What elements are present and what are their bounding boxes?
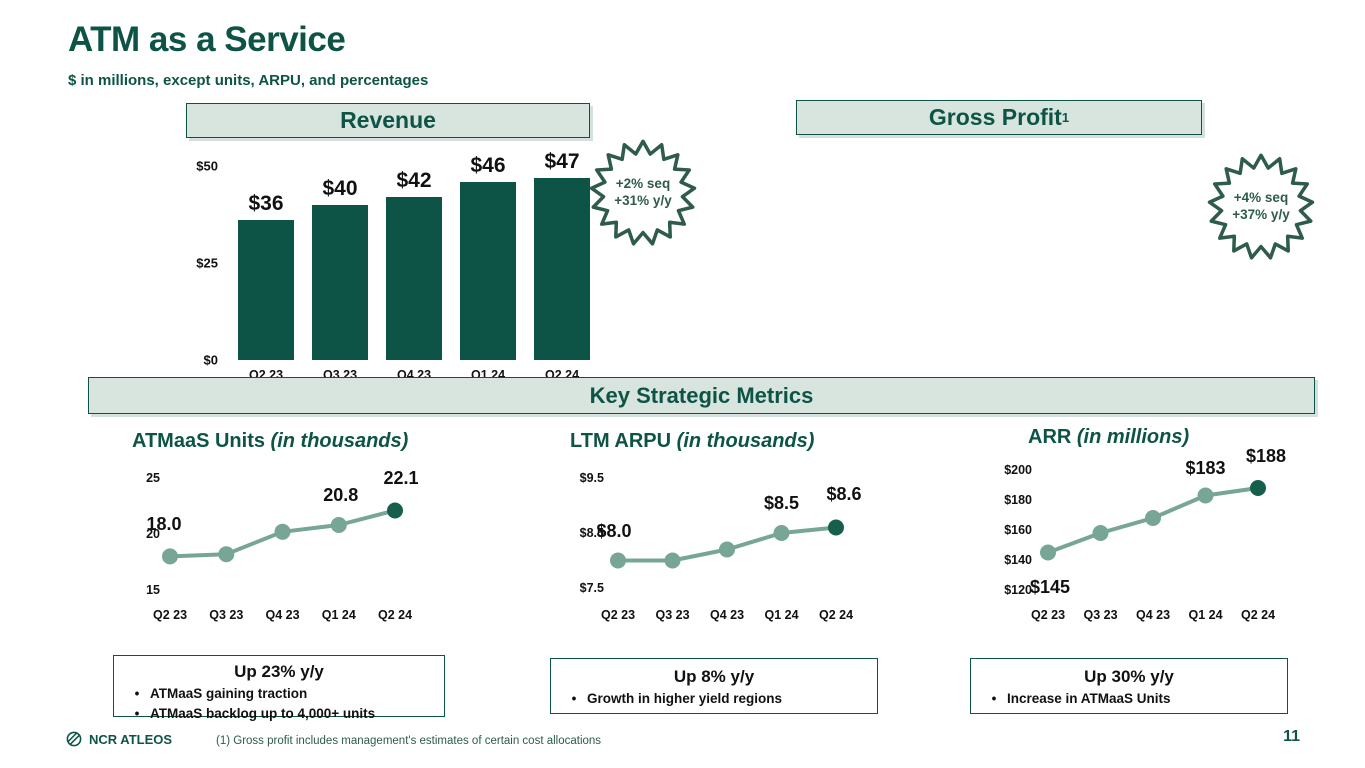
callout-atmaas-units: Up 23% y/y • ATMaaS gaining traction • A…	[113, 655, 445, 717]
data-point-marker	[1198, 488, 1214, 504]
x-axis-category-label: Q4 23	[710, 608, 744, 622]
ltm-arpu-line-chart: LTM ARPU (in thousands)$7.5$8.5$9.5$8.0$…	[548, 430, 878, 650]
gross-profit-banner-label: Gross Profit	[929, 104, 1062, 131]
callout-item-label: ATMaaS gaining traction	[150, 684, 307, 704]
bar-value-label: $47	[544, 150, 579, 174]
x-axis-category-label: Q2 23	[153, 608, 187, 622]
x-axis-category-label: Q1 24	[764, 608, 798, 622]
data-point-label: $188	[1246, 446, 1286, 467]
data-point-label: 20.8	[323, 485, 358, 506]
bullet-icon: •	[124, 684, 150, 704]
x-axis-category-label: Q4 23	[1136, 608, 1170, 622]
brand-logo-text: NCR ATLEOS	[89, 732, 172, 747]
data-point-marker	[1093, 525, 1109, 541]
bar	[312, 205, 368, 360]
callout-item: • ATMaaS gaining traction	[124, 684, 434, 704]
slide: ATM as a Service $ in millions, except u…	[0, 0, 1365, 768]
bar	[534, 178, 590, 360]
data-point-label: 22.1	[383, 468, 418, 489]
bar	[386, 197, 442, 360]
revenue-bar-chart: $0$25$50$36Q2 23$40Q3 23$42Q4 23$46Q1 24…	[186, 150, 596, 365]
data-point-marker	[774, 525, 790, 541]
gross-profit-growth-badge: +4% seq +37% y/y	[1206, 152, 1316, 262]
arr-line-chart: ARR (in millions)$120$140$160$180$200$14…	[968, 430, 1298, 650]
data-point-marker	[1250, 480, 1266, 496]
data-point-marker	[331, 517, 347, 533]
key-strategic-metrics-banner: Key Strategic Metrics	[88, 377, 1315, 414]
page-title: ATM as a Service	[68, 20, 345, 60]
data-point-label: 18.0	[146, 514, 181, 535]
x-axis-category-label: Q3 23	[655, 608, 689, 622]
callout-item: • Growth in higher yield regions	[561, 689, 867, 709]
revenue-growth-badge: +2% seq +31% y/y	[588, 138, 698, 248]
data-point-label: $183	[1185, 458, 1225, 479]
bar	[460, 182, 516, 360]
gross-profit-footnote-marker: 1	[1062, 110, 1069, 125]
brand-logo: NCR ATLEOS	[66, 731, 172, 747]
callout-arr: Up 30% y/y • Increase in ATMaaS Units	[970, 658, 1288, 714]
data-point-label: $8.0	[596, 521, 631, 542]
bullet-icon: •	[124, 704, 150, 724]
revenue-banner-label: Revenue	[340, 107, 436, 134]
callout-item-label: ATMaaS backlog up to 4,000+ units	[150, 704, 375, 724]
bullet-icon: •	[981, 689, 1007, 709]
callout-head: Up 8% y/y	[561, 667, 867, 687]
bar-value-label: $36	[248, 192, 283, 216]
x-axis-category-label: Q1 24	[322, 608, 356, 622]
x-axis-category-label: Q2 24	[1241, 608, 1275, 622]
y-axis-tick-label: $50	[184, 159, 218, 174]
gross-profit-badge-line2: +37% y/y	[1232, 207, 1289, 224]
gross-profit-banner: Gross Profit1	[796, 100, 1202, 135]
data-point-marker	[275, 524, 291, 540]
x-axis-category-label: Q2 23	[601, 608, 635, 622]
data-point-marker	[218, 546, 234, 562]
gross-profit-bar-chart	[800, 150, 1210, 365]
data-point-marker	[665, 553, 681, 569]
x-axis-category-label: Q4 23	[265, 608, 299, 622]
ncr-atleos-globe-icon	[66, 731, 82, 747]
x-axis-category-label: Q3 23	[1083, 608, 1117, 622]
data-point-label: $145	[1030, 577, 1070, 598]
x-axis-category-label: Q3 23	[209, 608, 243, 622]
callout-item-label: Increase in ATMaaS Units	[1007, 689, 1171, 709]
atmaas-units-line-chart: ATMaaS Units (in thousands)15202518.020.…	[120, 430, 450, 650]
x-axis-category-label: Q2 24	[819, 608, 853, 622]
y-axis-tick-label: $0	[184, 353, 218, 368]
y-axis-tick-label: $25	[184, 256, 218, 271]
gross-profit-badge-line1: +4% seq	[1234, 190, 1288, 207]
data-point-marker	[1145, 510, 1161, 526]
key-strategic-metrics-label: Key Strategic Metrics	[590, 383, 814, 409]
bar-value-label: $42	[396, 169, 431, 193]
bar-value-label: $46	[470, 154, 505, 178]
revenue-badge-line2: +31% y/y	[614, 193, 671, 210]
callout-item: • Increase in ATMaaS Units	[981, 689, 1277, 709]
x-axis-category-label: Q2 23	[1031, 608, 1065, 622]
callout-head: Up 23% y/y	[124, 662, 434, 682]
data-point-marker	[719, 542, 735, 558]
callout-item: • ATMaaS backlog up to 4,000+ units	[124, 704, 434, 724]
data-point-marker	[610, 553, 626, 569]
bullet-icon: •	[561, 689, 587, 709]
data-point-label: $8.6	[826, 484, 861, 505]
page-number: 11	[1283, 728, 1300, 746]
callout-item-label: Growth in higher yield regions	[587, 689, 782, 709]
data-point-marker	[162, 548, 178, 564]
revenue-banner: Revenue	[186, 103, 590, 138]
page-subtitle: $ in millions, except units, ARPU, and p…	[68, 72, 428, 89]
bar-value-label: $40	[322, 177, 357, 201]
data-point-label: $8.5	[764, 493, 799, 514]
callout-ltm-arpu: Up 8% y/y • Growth in higher yield regio…	[550, 658, 878, 714]
data-point-marker	[828, 520, 844, 536]
data-point-marker	[1040, 545, 1056, 561]
x-axis-category-label: Q2 24	[378, 608, 412, 622]
footnote: (1) Gross profit includes management's e…	[216, 735, 601, 747]
x-axis-category-label: Q1 24	[1188, 608, 1222, 622]
callout-head: Up 30% y/y	[981, 667, 1277, 687]
bar	[238, 220, 294, 360]
revenue-badge-line1: +2% seq	[616, 176, 670, 193]
data-point-marker	[387, 503, 403, 519]
